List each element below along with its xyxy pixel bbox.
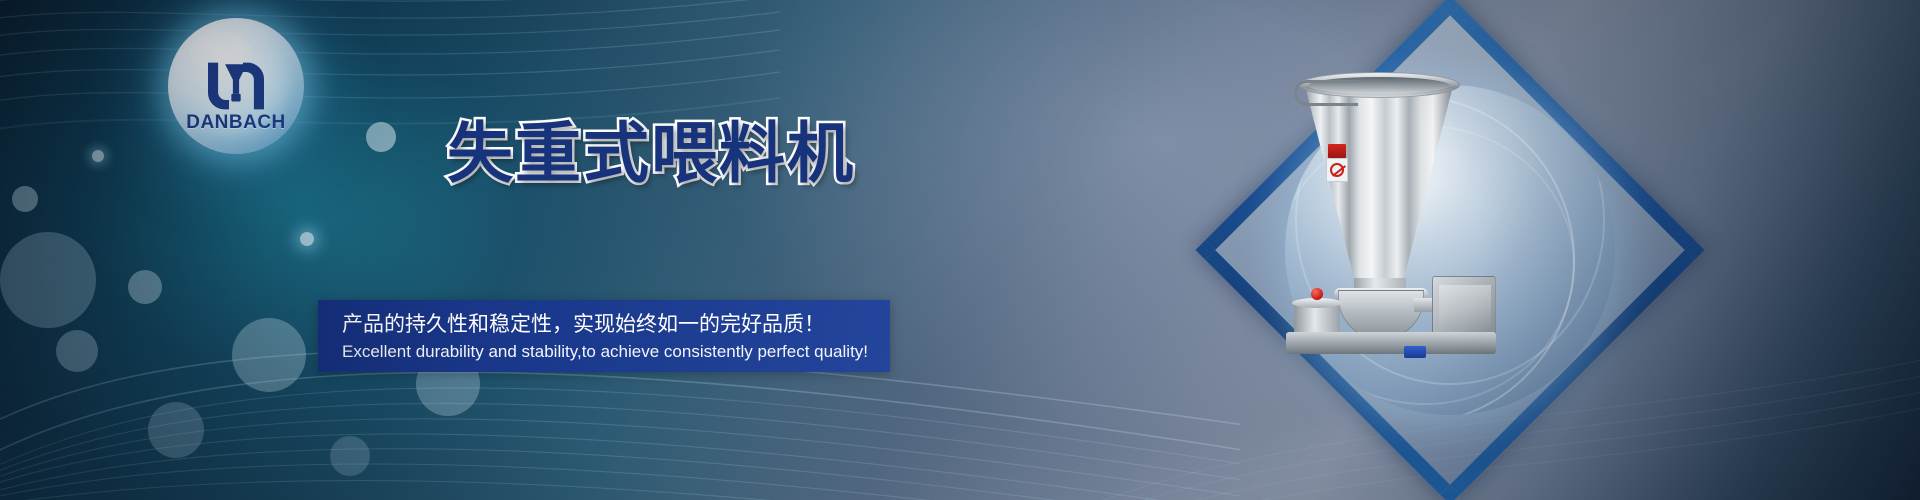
bokeh-circle — [330, 436, 370, 476]
tagline-chinese: 产品的持久性和稳定性，实现始终如一的完好品质！ — [342, 309, 890, 339]
bokeh-circle — [0, 232, 96, 328]
hopper-cone — [1304, 82, 1454, 282]
no-entry-icon — [1330, 163, 1344, 177]
tagline-english: Excellent durability and stability,to ac… — [342, 339, 890, 365]
machine-base-frame — [1286, 332, 1496, 354]
loss-in-weight-feeder-image — [1276, 60, 1526, 360]
bokeh-circle — [148, 402, 204, 458]
brand-wordmark: DANBACH — [168, 112, 304, 134]
bokeh-circle — [56, 330, 98, 372]
bokeh-circle — [232, 318, 306, 392]
hopper-clamp — [1294, 80, 1358, 106]
bokeh-circle — [92, 150, 104, 162]
blue-foot-pad — [1404, 346, 1426, 358]
red-indicator-knob — [1311, 288, 1323, 300]
promo-banner: DANBACH 失重式喂料机 产品的持久性和稳定性，实现始终如一的完好品质！ E… — [0, 0, 1920, 500]
page-title: 失重式喂料机 — [447, 118, 855, 190]
tagline-box: 产品的持久性和稳定性，实现始终如一的完好品质！ Excellent durabi… — [318, 300, 890, 372]
danbach-monogram-icon — [197, 58, 275, 114]
bokeh-circle — [300, 232, 314, 246]
brand-logo[interactable]: DANBACH — [168, 18, 304, 154]
warning-label-white — [1326, 158, 1348, 182]
warning-label-red — [1328, 144, 1346, 158]
bokeh-circle — [366, 122, 396, 152]
bokeh-circle — [128, 270, 162, 304]
drive-motor — [1432, 276, 1496, 338]
bokeh-circle — [12, 186, 38, 212]
